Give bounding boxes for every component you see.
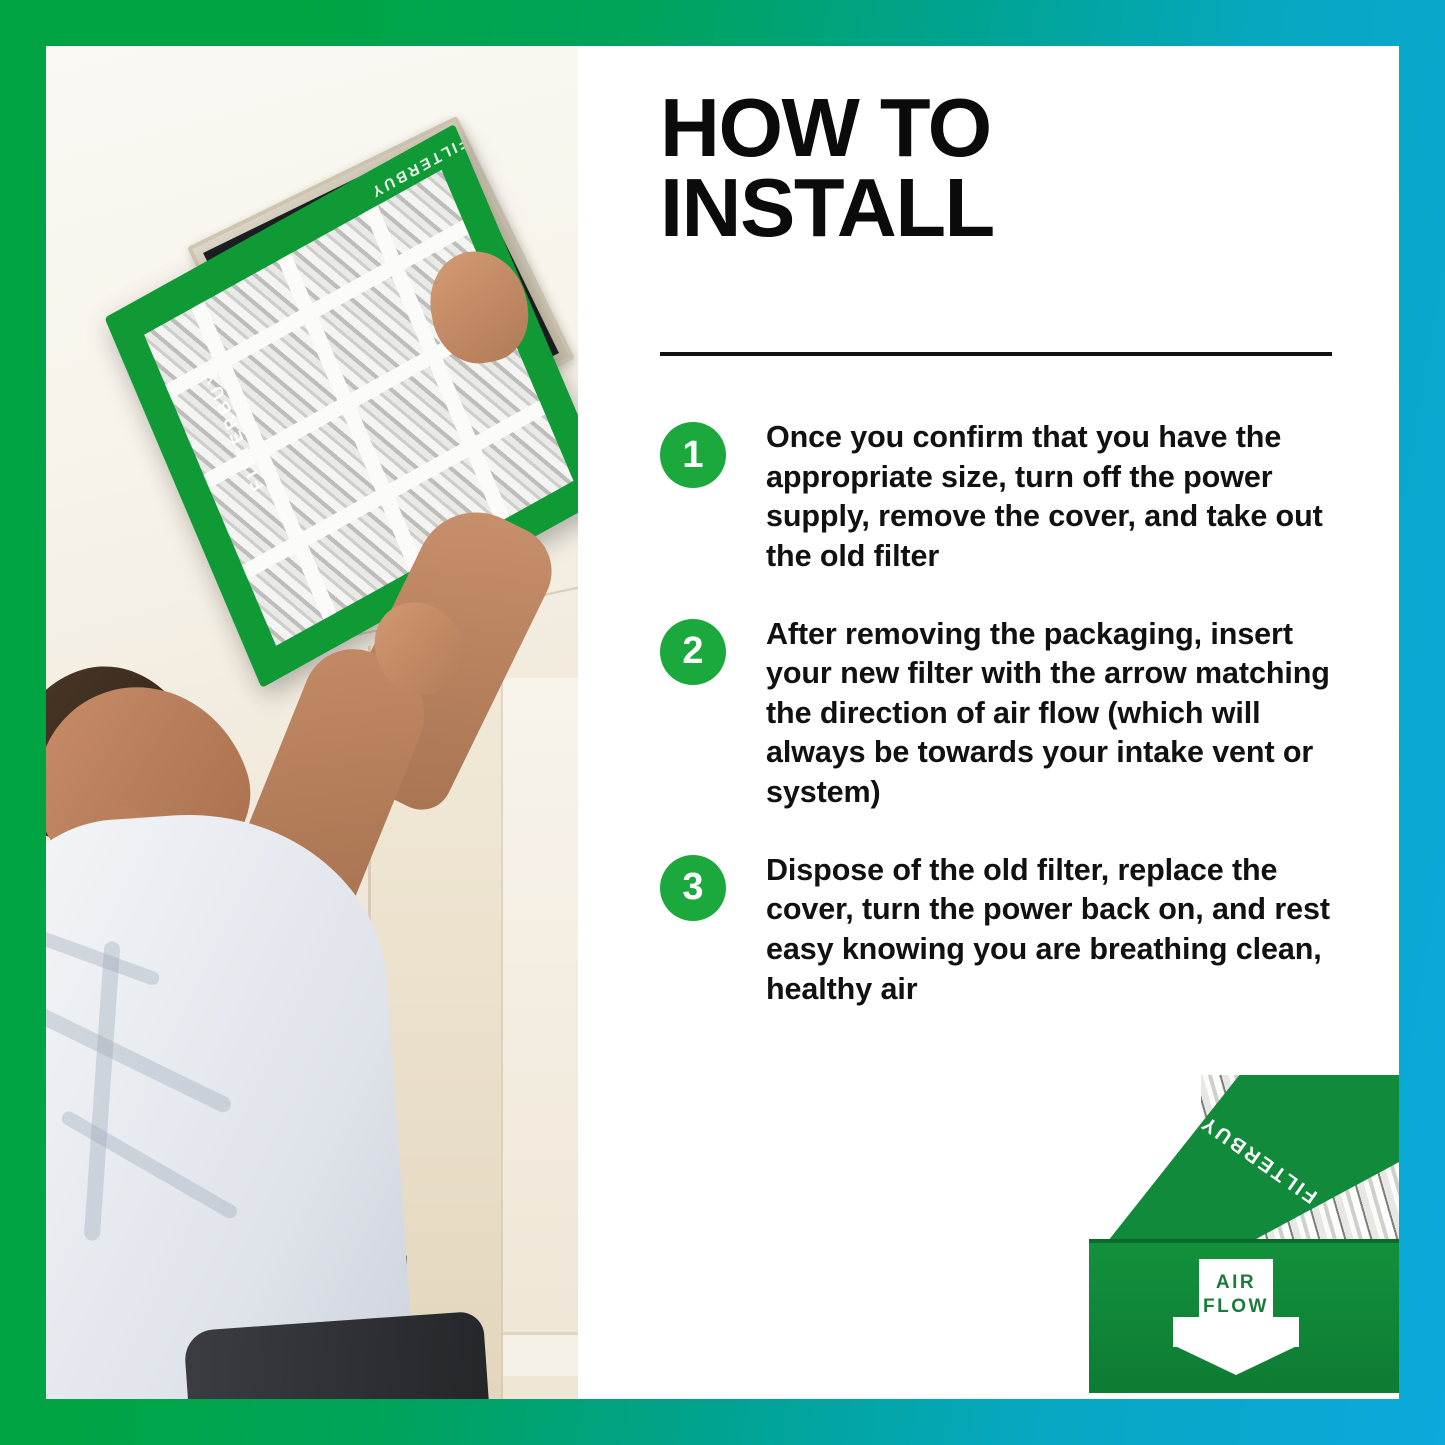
page-frame: FILTERBUY FILTERBUY HOW TO INSTALL xyxy=(0,0,1445,1445)
step-text-1: Once you confirm that you have the appro… xyxy=(766,418,1360,577)
air-flow-arrow-icon: AIR FLOW xyxy=(1173,1259,1299,1375)
page-title-line-1: HOW TO xyxy=(660,88,1360,168)
inner-canvas: FILTERBUY FILTERBUY HOW TO INSTALL xyxy=(46,46,1399,1399)
air-flow-label-line-1: AIR xyxy=(1216,1272,1256,1293)
step-number-badge-1: 1 xyxy=(660,422,726,488)
step-number-badge-2: 2 xyxy=(660,619,726,685)
product-filter-front-frame: AIR FLOW xyxy=(1089,1243,1399,1393)
page-title-line-2: INSTALL xyxy=(660,168,1360,248)
air-flow-label-line-2: FLOW xyxy=(1203,1296,1269,1317)
air-flow-label: AIR FLOW xyxy=(1173,1271,1299,1320)
product-filter-image: FILTERBUY AIR FLOW xyxy=(1075,1075,1399,1399)
photo-wall-far xyxy=(503,678,578,1399)
step-text-3: Dispose of the old filter, replace the c… xyxy=(766,851,1360,1010)
photo-corner-line-2 xyxy=(501,676,503,1399)
step-text-2: After removing the packaging, insert you… xyxy=(766,615,1360,813)
content-panel: HOW TO INSTALL 1 Once you confirm that y… xyxy=(578,46,1399,1399)
step-item-2: 2 After removing the packaging, insert y… xyxy=(660,615,1360,813)
steps-list: 1 Once you confirm that you have the app… xyxy=(660,418,1360,1047)
step-number-badge-3: 3 xyxy=(660,855,726,921)
title-divider xyxy=(660,352,1332,356)
step-item-1: 1 Once you confirm that you have the app… xyxy=(660,418,1360,577)
step-item-3: 3 Dispose of the old filter, replace the… xyxy=(660,851,1360,1010)
photo-baseboard xyxy=(503,1332,578,1376)
install-photo: FILTERBUY FILTERBUY xyxy=(46,46,578,1399)
page-title: HOW TO INSTALL xyxy=(660,88,1360,247)
